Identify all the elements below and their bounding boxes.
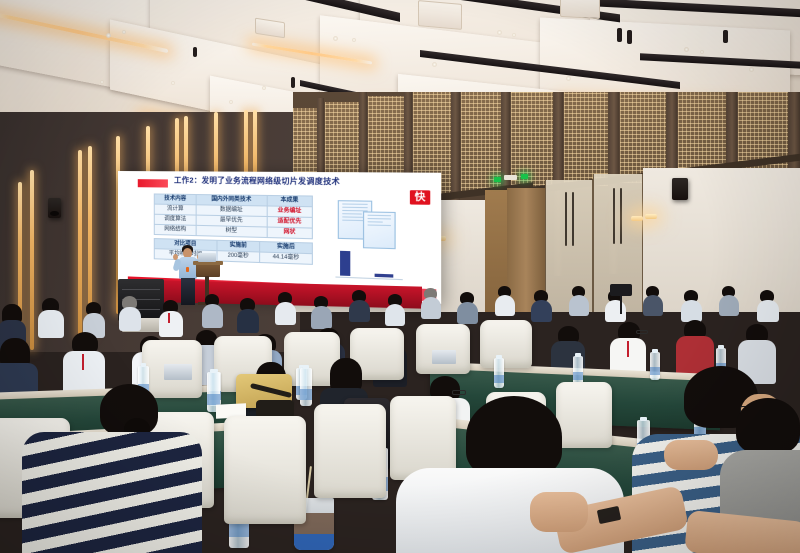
cell-other: 树型 [196,225,266,237]
col-header-ours: 本成果 [267,195,313,206]
track-light [723,30,728,43]
exit-sign [494,177,501,182]
chair[interactable] [416,324,470,374]
door-handle[interactable] [620,188,622,244]
track-light [617,28,622,42]
door-handle[interactable] [613,188,615,244]
cell-ours: 网状 [267,227,313,239]
wall-sconce [645,214,657,219]
track-light [627,30,632,44]
exit-sign [521,174,528,179]
audience-laptop[interactable] [164,364,192,380]
hand [530,492,588,532]
perforated-screen-panel [564,92,608,186]
cell-after: 44.14毫秒 [260,252,312,264]
audience-member-foreground-left [36,388,196,553]
hand-holding-phone [664,440,718,470]
chair[interactable] [224,416,306,524]
bar-before [340,251,350,276]
wall-speaker [672,178,688,200]
technology-comparison-table: 技术内容 国内外同类技术 本成果 流计算 数据编址 业务编址 调度算法 最早优先… [154,193,313,239]
conference-hall-photo: 工作2：发明了业务流程网络级切片发调度技术 快 技术内容 国内外同类技术 本成果… [0,0,800,553]
eyeglasses [452,390,466,395]
striped-sweater [22,432,202,553]
perforated-screen-panel [511,92,553,189]
wall-sconce [631,216,643,221]
ceiling-vent [560,0,600,19]
ceiling-vent [418,0,462,30]
chair[interactable] [314,404,386,498]
presenter-badge [186,267,189,272]
audience-laptop[interactable] [432,350,456,364]
wall-speaker [48,198,61,218]
eyeglasses [636,330,648,334]
water-bottle[interactable] [300,368,312,406]
fast-badge: 快 [410,190,430,205]
certificate-thumbnail [363,211,396,249]
presenter-hand-left [173,254,178,260]
hair [736,398,800,454]
camera-tripod [620,296,622,314]
track-light [291,77,295,88]
cell-before: 200毫秒 [217,251,260,263]
slide-accent-badge [138,179,168,187]
door-handle[interactable] [565,192,567,246]
chair[interactable] [480,320,532,368]
presenter-laptop [198,253,216,262]
col-header-tech: 技术内容 [154,194,196,205]
track-light [193,47,197,57]
hair [466,396,562,478]
door-handle[interactable] [572,192,574,246]
mini-bar-chart [335,250,405,283]
cell-tech: 网络结构 [154,224,196,235]
slide-title: 工作2：发明了业务流程网络级切片发调度技术 [174,175,340,187]
camera-operator [610,284,632,296]
